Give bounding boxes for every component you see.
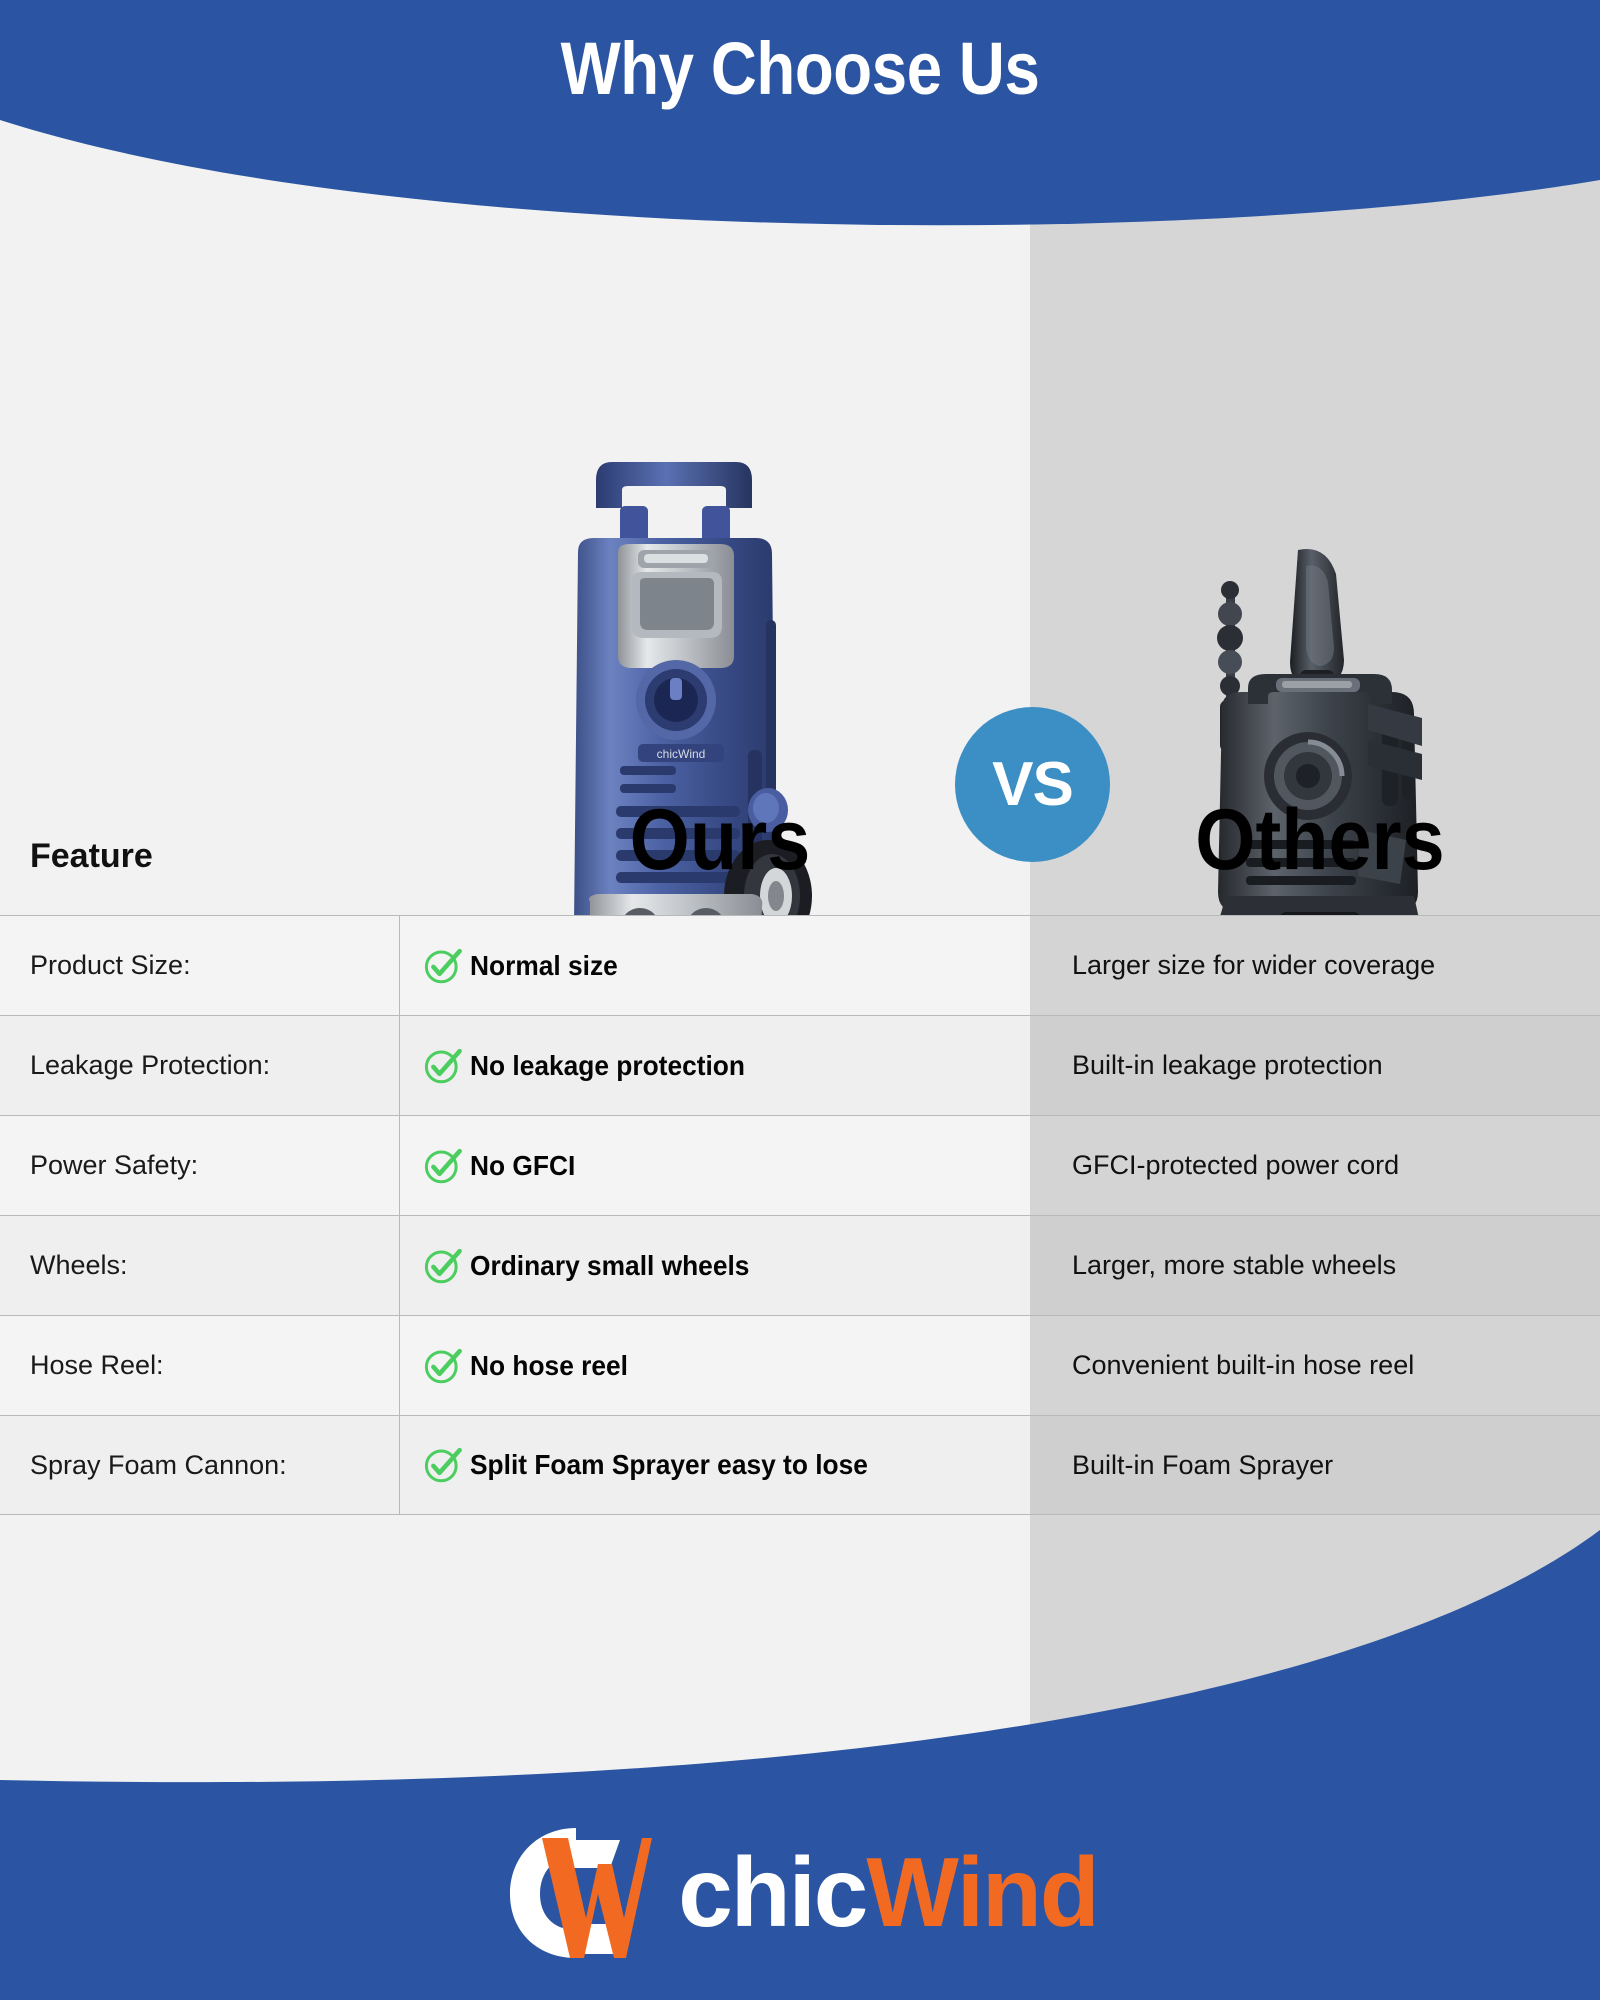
cell-ours-label: Ordinary small wheels — [470, 1250, 749, 1282]
cell-others: Larger size for wider coverage — [1030, 916, 1600, 1015]
table-row: Leakage Protection: No leakage protectio… — [0, 1015, 1600, 1115]
logo-text-chic: chic — [678, 1837, 866, 1947]
logo-text-ind: ind — [957, 1837, 1098, 1947]
cell-ours: No hose reel — [400, 1316, 1030, 1415]
brand-logo: chicWind — [0, 1822, 1600, 1962]
check-circle-icon — [422, 1045, 464, 1087]
cell-feature: Spray Foam Cannon: — [0, 1416, 400, 1514]
cell-others: Built-in leakage protection — [1030, 1016, 1600, 1115]
cell-others: Larger, more stable wheels — [1030, 1216, 1600, 1315]
cell-feature: Product Size: — [0, 916, 400, 1015]
check-circle-icon — [422, 1145, 464, 1187]
cell-ours: Normal size — [400, 916, 1030, 1015]
cell-ours-label: No hose reel — [470, 1350, 628, 1382]
svg-text:chicWind: chicWind — [657, 747, 706, 761]
check-circle-icon — [422, 1245, 464, 1287]
infographic-page: Why Choose Us — [0, 0, 1600, 2000]
table-row: Spray Foam Cannon: Split Foam Sprayer ea… — [0, 1415, 1600, 1515]
cell-others: Convenient built-in hose reel — [1030, 1316, 1600, 1415]
check-circle-icon — [422, 1444, 464, 1486]
cell-ours: No GFCI — [400, 1116, 1030, 1215]
cell-ours-label: Normal size — [470, 950, 618, 982]
cell-ours-label: No GFCI — [470, 1150, 575, 1182]
cell-feature: Hose Reel: — [0, 1316, 400, 1415]
cell-ours: No leakage protection — [400, 1016, 1030, 1115]
cell-feature: Wheels: — [0, 1216, 400, 1315]
column-header-feature: Feature — [30, 837, 153, 876]
check-circle-icon — [422, 1345, 464, 1387]
cell-feature: Leakage Protection: — [0, 1016, 400, 1115]
table-row: Hose Reel: No hose reel Convenient built… — [0, 1315, 1600, 1415]
cell-others: GFCI-protected power cord — [1030, 1116, 1600, 1215]
table-row: Wheels: Ordinary small wheels Larger, mo… — [0, 1215, 1600, 1315]
chicwind-mark-icon — [502, 1822, 652, 1962]
comparison-table: Product Size: Normal size Larger size fo… — [0, 915, 1600, 1515]
cell-ours-label: Split Foam Sprayer easy to lose — [470, 1449, 868, 1481]
column-header-ours: Ours — [432, 795, 1008, 885]
table-row: Product Size: Normal size Larger size fo… — [0, 915, 1600, 1015]
cell-others: Built-in Foam Sprayer — [1030, 1416, 1600, 1514]
logo-text-w: W — [866, 1843, 957, 1941]
check-circle-icon — [422, 945, 464, 987]
table-row: Power Safety: No GFCI GFCI-protected pow… — [0, 1115, 1600, 1215]
chicwind-wordmark: chicWind — [678, 1843, 1098, 1941]
column-header-row: Feature Ours Others — [0, 795, 1600, 915]
column-header-others: Others — [1068, 795, 1572, 885]
cell-ours-label: No leakage protection — [470, 1050, 745, 1082]
cell-ours: Ordinary small wheels — [400, 1216, 1030, 1315]
cell-ours: Split Foam Sprayer easy to lose — [400, 1416, 1030, 1514]
cell-feature: Power Safety: — [0, 1116, 400, 1215]
page-title: Why Choose Us — [112, 26, 1488, 111]
